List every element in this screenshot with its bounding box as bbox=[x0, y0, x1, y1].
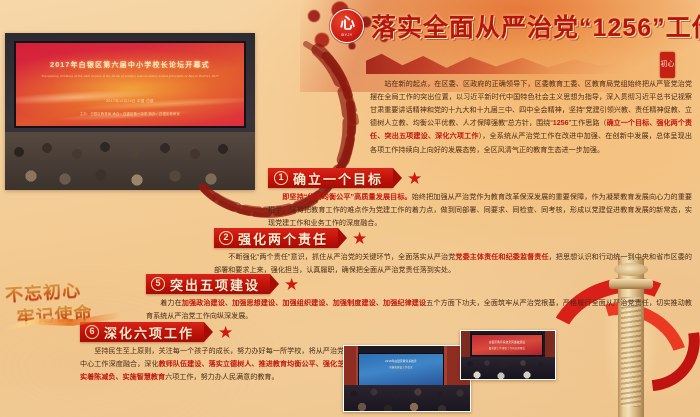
section-1-body-lead: 即坚持“优质均衡公平”高质量发展目标。 bbox=[282, 193, 412, 201]
photo-b2-screen-line-2: 暨党建工作述职工作动员部署会 bbox=[472, 346, 542, 350]
slogan-block: 不忘初心 牢记使命 bbox=[4, 273, 120, 337]
section-6-body: 坚持民生至上原则，关注每一个孩子的成长，努力办好每一所学校，将从严治党要求与教育… bbox=[80, 345, 380, 384]
section-2-header: 2 强化两个责任 ★ bbox=[214, 228, 692, 248]
seal-stamp-icon: 初心 bbox=[660, 52, 675, 78]
star-icon: ★ bbox=[352, 230, 367, 247]
section-6-body-text: 六项工作，努力办人民满意的教育。 bbox=[165, 373, 279, 381]
led-screen-title: 2017年白银区第六届中小学校长论坛开幕式 bbox=[16, 60, 244, 70]
section-5-title: 突出五项建设 bbox=[170, 275, 260, 294]
poster-root: 心 BYJY 落实全面从严治党“1256”工作思路 初心 站在新的起点，在区委、… bbox=[0, 0, 700, 417]
intro-mid-text: ”工作思路（ bbox=[569, 119, 607, 127]
section-5-header: 5 突出五项建设 ★ bbox=[146, 274, 692, 294]
section-2-body-highlight: 党委主体责任和纪委监督责任 bbox=[455, 253, 548, 261]
section-block-1: 1 确立一个目标 ★ 即坚持“优质均衡公平”高质量发展目标。始终把加强从严治党作… bbox=[268, 168, 692, 230]
section-1-body: 即坚持“优质均衡公平”高质量发展目标。始终把加强从严治党作为教育改革保深发展的重… bbox=[268, 191, 692, 230]
logo-mark-glyph: 心 bbox=[340, 16, 354, 31]
section-5-body-highlight: 加强政治建设、加强思想建设、加强组织建设、加强制度建设、加强纪律建设 bbox=[182, 299, 426, 307]
star-icon: ★ bbox=[284, 276, 299, 293]
conference-photo-bottom-1: 2018年白银区教育系统党 风廉政建设工作会议 bbox=[343, 345, 471, 412]
section-5-number-badge: 5 bbox=[151, 277, 165, 291]
section-5-banner: 5 突出五项建设 bbox=[146, 274, 270, 294]
ink-brush-streak bbox=[366, 52, 626, 74]
led-screen-organizer-line: 主办：白银区教育局 承办：白银区第一中学 协办：白银区教研室 bbox=[16, 111, 244, 116]
intro-number-1256: 1256 bbox=[553, 119, 569, 127]
section-2-banner: 2 强化两个责任 bbox=[214, 228, 338, 248]
poster-header: 心 BYJY 落实全面从严治党“1256”工作思路 bbox=[330, 8, 700, 44]
section-1-number-badge: 1 bbox=[274, 171, 288, 185]
section-5-body-lead: 着力在 bbox=[160, 299, 182, 307]
section-block-2: 2 强化两个责任 ★ 不断强化“两个责任”意识，抓住从严治党的关键环节，全面落实… bbox=[214, 228, 692, 277]
star-icon: ★ bbox=[218, 324, 233, 341]
conference-photo-bottom-2: 白银区教育系统党风廉政建设 暨党建工作述职工作动员部署会 bbox=[460, 330, 556, 380]
led-screen-subtitle: The opening ceremony of the sixth sessio… bbox=[16, 74, 244, 78]
conference-photo-main: 2017年白银区第六届中小学校长论坛开幕式 The opening ceremo… bbox=[5, 33, 255, 190]
photo-b1-screen-line-1: 2018年白银区教育系统党 bbox=[359, 359, 443, 363]
section-2-title: 强化两个责任 bbox=[238, 229, 328, 248]
section-1-header: 1 确立一个目标 ★ bbox=[268, 168, 692, 188]
section-block-5: 5 突出五项建设 ★ 着力在加强政治建设、加强思想建设、加强组织建设、加强制度建… bbox=[146, 274, 692, 323]
section-5-body: 着力在加强政治建设、加强思想建设、加强组织建设、加强制度建设、加强纪律建设五个方… bbox=[146, 297, 692, 323]
section-1-banner: 1 确立一个目标 bbox=[268, 168, 393, 188]
section-6-header: 6 深化六项工作 ★ bbox=[80, 322, 380, 342]
led-screen: 2017年白银区第六届中小学校长论坛开幕式 The opening ceremo… bbox=[14, 41, 246, 128]
section-2-body-lead: 不断强化“两个责任”意识，抓住从严治党的关键环节，全面落实从严治党 bbox=[228, 253, 455, 261]
poster-title: 落实全面从严治党“1256”工作思路 bbox=[371, 8, 700, 44]
audience-crowd bbox=[5, 132, 255, 190]
photo-b1-screen: 2018年白银区教育系统党 风廉政建设工作会议 bbox=[358, 353, 444, 387]
photo-b2-crowd bbox=[461, 357, 555, 379]
section-1-title: 确立一个目标 bbox=[293, 169, 383, 188]
photo-b2-screen: 白银区教育系统党风廉政建设 暨党建工作述职工作动员部署会 bbox=[471, 334, 543, 356]
intro-paragraph: 站在新的起点，在区委、区政府的正确领导下，区委教育工委、区教育局党组始终把从严管… bbox=[370, 78, 692, 157]
brand-logo-icon: 心 BYJY bbox=[330, 9, 364, 43]
section-block-6: 6 深化六项工作 ★ 坚持民生至上原则，关注每一个孩子的成长，努力办好每一所学校… bbox=[80, 322, 380, 384]
photo-b1-screen-line-2: 风廉政建设工作会议 bbox=[359, 365, 443, 369]
section-2-number-badge: 2 bbox=[219, 231, 233, 245]
logo-abbreviation: BYJY bbox=[341, 33, 352, 37]
photo-b2-screen-line-1: 白银区教育系统党风廉政建设 bbox=[472, 340, 542, 344]
led-screen-date-line: 2017年12月25日 中国·白银 bbox=[16, 98, 244, 103]
photo-b1-crowd bbox=[344, 385, 470, 411]
star-icon: ★ bbox=[407, 170, 422, 187]
